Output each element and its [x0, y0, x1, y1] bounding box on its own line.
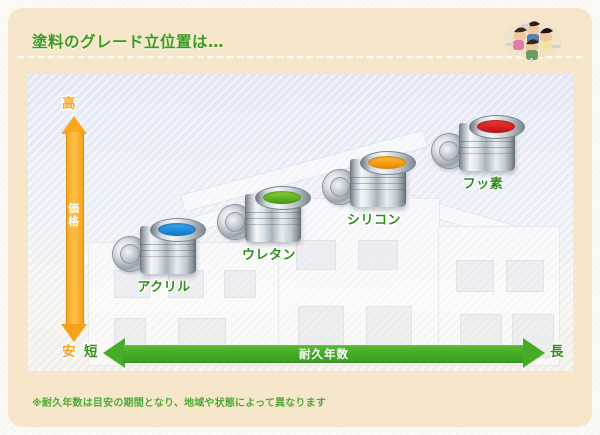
grade-label-fluorine: フッ素: [433, 173, 533, 192]
grade-label-urethane: ウレタン: [219, 244, 319, 263]
grade-item-urethane[interactable]: ウレタン: [231, 176, 305, 242]
paint-surface: [263, 191, 301, 204]
paint-surface: [368, 156, 406, 169]
grade-label-acrylic: アクリル: [114, 276, 214, 295]
content-card: 塗料のグレード立位置は…: [8, 8, 592, 427]
durability-axis-arrow: 耐久年数: [103, 338, 545, 368]
arrow-shaft: [66, 132, 84, 326]
grade-item-fluorine[interactable]: フッ素: [445, 105, 519, 171]
grade-item-acrylic[interactable]: アクリル: [126, 208, 200, 274]
footnote-text: ※耐久年数は目安の期間となり、地域や状態によって異なります: [32, 394, 326, 409]
price-axis-label-char1: 価: [61, 202, 87, 215]
page-title: 塗料のグレード立位置は…: [32, 30, 224, 52]
price-axis-arrow: 価 格: [61, 116, 87, 342]
grade-label-silicon: シリコン: [324, 209, 424, 228]
people-illustration-icon: [486, 14, 578, 62]
paint-can-urethane: [231, 176, 305, 242]
paint-can-acrylic: [126, 208, 200, 274]
price-low-cap: 安: [62, 340, 76, 360]
paint-can-fluorine: [445, 105, 519, 171]
durability-axis-label: 耐久年数: [103, 346, 545, 362]
paint-surface: [158, 223, 196, 236]
paint-surface: [477, 120, 515, 133]
can-body: [140, 226, 196, 274]
price-axis-label-char2: 格: [61, 215, 87, 228]
paint-can-silicon: [336, 141, 410, 207]
price-axis-label: 価 格: [61, 202, 87, 228]
can-body: [459, 123, 515, 171]
durability-long-cap: 長: [550, 340, 564, 360]
price-high-cap: 高: [62, 92, 76, 112]
can-body: [350, 159, 406, 207]
chart-panel: アクリル ウレタン: [28, 74, 573, 371]
page-background: 塗料のグレード立位置は…: [0, 0, 600, 435]
grade-item-silicon[interactable]: シリコン: [336, 141, 410, 207]
durability-short-cap: 短: [84, 340, 98, 360]
can-body: [245, 194, 301, 242]
